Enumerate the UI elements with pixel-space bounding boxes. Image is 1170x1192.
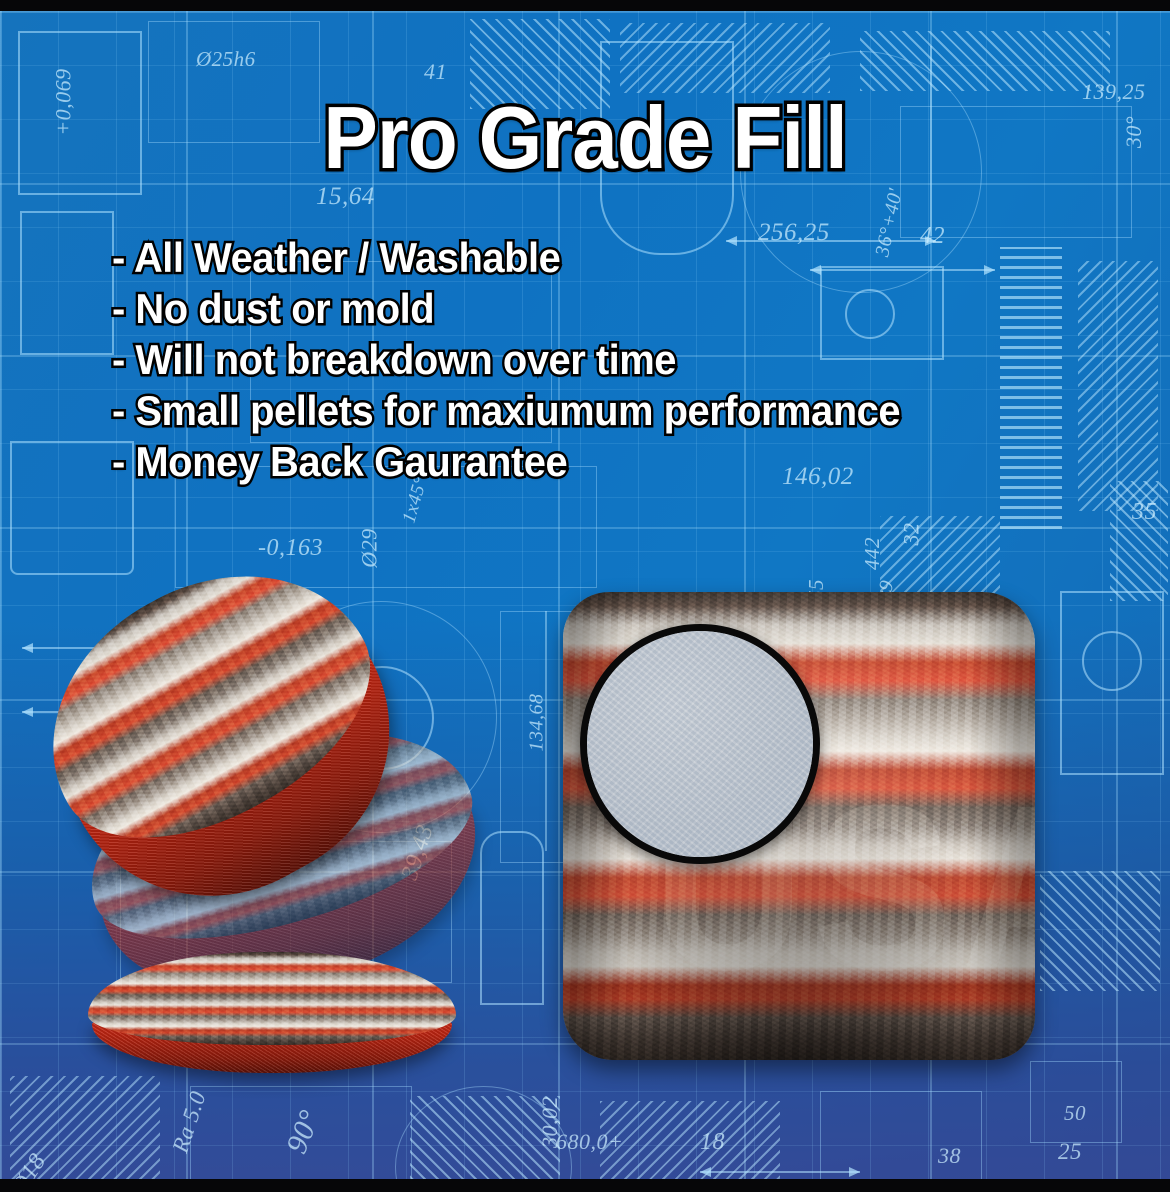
blueprint-dimension-text: 442 bbox=[860, 537, 885, 570]
letterbox-bar-bottom bbox=[0, 1179, 1170, 1192]
feature-item: - All Weather / Washable bbox=[112, 232, 900, 283]
feature-item: - Money Back Gaurantee bbox=[112, 436, 900, 487]
feature-item: - Will not breakdown over time bbox=[112, 334, 900, 385]
pellet-grain-overlay bbox=[587, 631, 813, 857]
blueprint-dimension-text: 32 bbox=[899, 523, 925, 546]
blueprint-hatch bbox=[600, 1101, 780, 1179]
page-title: Pro Grade Fill bbox=[41, 92, 1129, 184]
blueprint-dimension-line bbox=[700, 1171, 860, 1173]
pellet-closeup-circle bbox=[580, 624, 820, 864]
bag-fabric-face bbox=[88, 952, 456, 1045]
blueprint-dimension-text: 35 bbox=[1132, 499, 1157, 526]
cornhole-bag-bottom bbox=[88, 952, 456, 1068]
blueprint-dimension-text: 41 bbox=[424, 59, 447, 85]
blueprint-hatch bbox=[860, 31, 1110, 91]
letterbox-bar-top bbox=[0, 0, 1170, 11]
blueprint-dimension-text: 50 bbox=[1064, 1101, 1086, 1126]
blueprint-dimension-text: 18 bbox=[700, 1129, 725, 1156]
feature-item: - Small pellets for maxiumum performance bbox=[112, 385, 900, 436]
product-ad-image: +0,069 Ø25h6 41 139,25 15,64 256,25 36°+… bbox=[0, 0, 1170, 1192]
bag-fleece-texture bbox=[88, 952, 456, 1045]
blueprint-dimension-text: 38 bbox=[938, 1143, 961, 1169]
blueprint-dimension-text: 680,0+ bbox=[556, 1129, 623, 1155]
blueprint-hatch bbox=[1000, 247, 1062, 529]
blueprint-hatch bbox=[1078, 261, 1158, 511]
blueprint-hatch bbox=[1040, 871, 1160, 991]
blueprint-circle bbox=[1082, 631, 1142, 691]
blueprint-dimension-text: 134,68 bbox=[526, 694, 549, 752]
blueprint-dimension-text: Ø29 bbox=[357, 528, 383, 567]
blueprint-dimension-text: 25 bbox=[1058, 1139, 1082, 1165]
blueprint-dimension-text: Ø25h6 bbox=[196, 47, 256, 72]
feature-item: - No dust or mold bbox=[112, 283, 900, 334]
blueprint-dimension-text: 15,64 bbox=[316, 183, 375, 211]
blueprint-dimension-text: 42 bbox=[920, 223, 945, 250]
feature-list: - All Weather / Washable - No dust or mo… bbox=[112, 232, 900, 487]
blueprint-shape bbox=[20, 211, 114, 355]
